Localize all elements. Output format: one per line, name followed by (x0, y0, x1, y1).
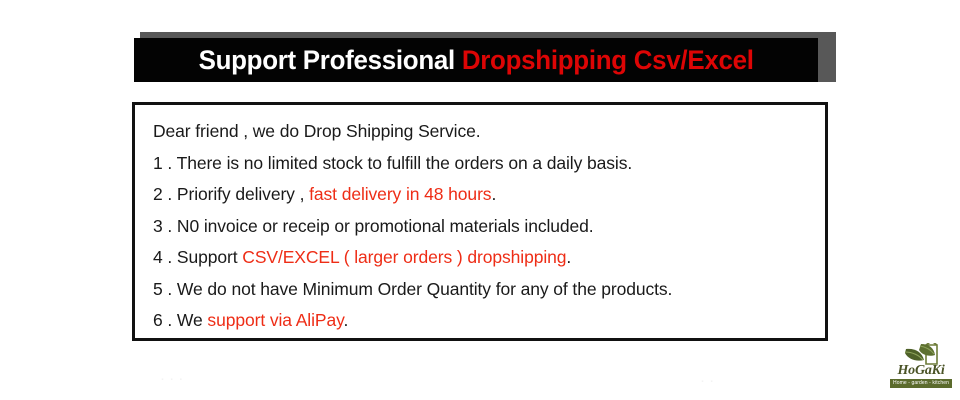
dropshipping-info-box: Dear friend , we do Drop Shipping Servic… (132, 102, 828, 341)
info-line-intro-segment-0: Dear friend , we do Drop Shipping Servic… (153, 121, 481, 141)
info-line-item-4-segment-0: 4 . Support (153, 247, 242, 267)
info-line-item-3-segment-0: 3 . N0 invoice or receip or promotional … (153, 216, 594, 236)
brand-logo: HoGaKi Home - garden - kitchen (886, 343, 956, 393)
info-line-item-1: 1 . There is no limited stock to fulfill… (153, 148, 817, 180)
info-line-item-1-segment-0: 1 . There is no limited stock to fulfill… (153, 153, 632, 173)
info-line-item-4-segment-2: . (566, 247, 571, 267)
brand-tagline: Home - garden - kitchen (890, 379, 952, 388)
brand-name: HoGaKi (886, 364, 956, 378)
title-banner: Support Professional Dropshipping Csv/Ex… (134, 32, 830, 84)
info-line-item-5: 5 . We do not have Minimum Order Quantit… (153, 274, 817, 306)
info-line-item-4-segment-1: CSV/EXCEL ( larger orders ) dropshipping (242, 247, 566, 267)
ghost-artifact: · · · (160, 370, 183, 387)
info-line-item-2: 2 . Priorify delivery , fast delivery in… (153, 179, 817, 211)
title-banner-bar: Support Professional Dropshipping Csv/Ex… (134, 38, 818, 82)
info-line-item-6-segment-0: 6 . We (153, 310, 207, 330)
info-line-item-2-segment-1: fast delivery in 48 hours (309, 184, 491, 204)
page-title-white-part: Support Professional (198, 45, 461, 75)
info-line-item-2-segment-0: 2 . Priorify delivery , (153, 184, 309, 204)
info-line-item-2-segment-2: . (491, 184, 496, 204)
info-line-item-3: 3 . N0 invoice or receip or promotional … (153, 211, 817, 243)
info-line-item-5-segment-0: 5 . We do not have Minimum Order Quantit… (153, 279, 672, 299)
info-line-intro: Dear friend , we do Drop Shipping Servic… (153, 116, 817, 148)
info-line-item-6-segment-2: . (343, 310, 348, 330)
ghost-artifact: · · (700, 372, 714, 389)
info-line-item-6-segment-1: support via AliPay (207, 310, 343, 330)
page-title: Support Professional Dropshipping Csv/Ex… (198, 47, 753, 74)
info-line-item-4: 4 . Support CSV/EXCEL ( larger orders ) … (153, 242, 817, 274)
dropshipping-info-list: Dear friend , we do Drop Shipping Servic… (153, 116, 817, 337)
page-title-red-part: Dropshipping Csv/Excel (462, 45, 754, 75)
info-line-item-6: 6 . We support via AliPay. (153, 305, 817, 337)
